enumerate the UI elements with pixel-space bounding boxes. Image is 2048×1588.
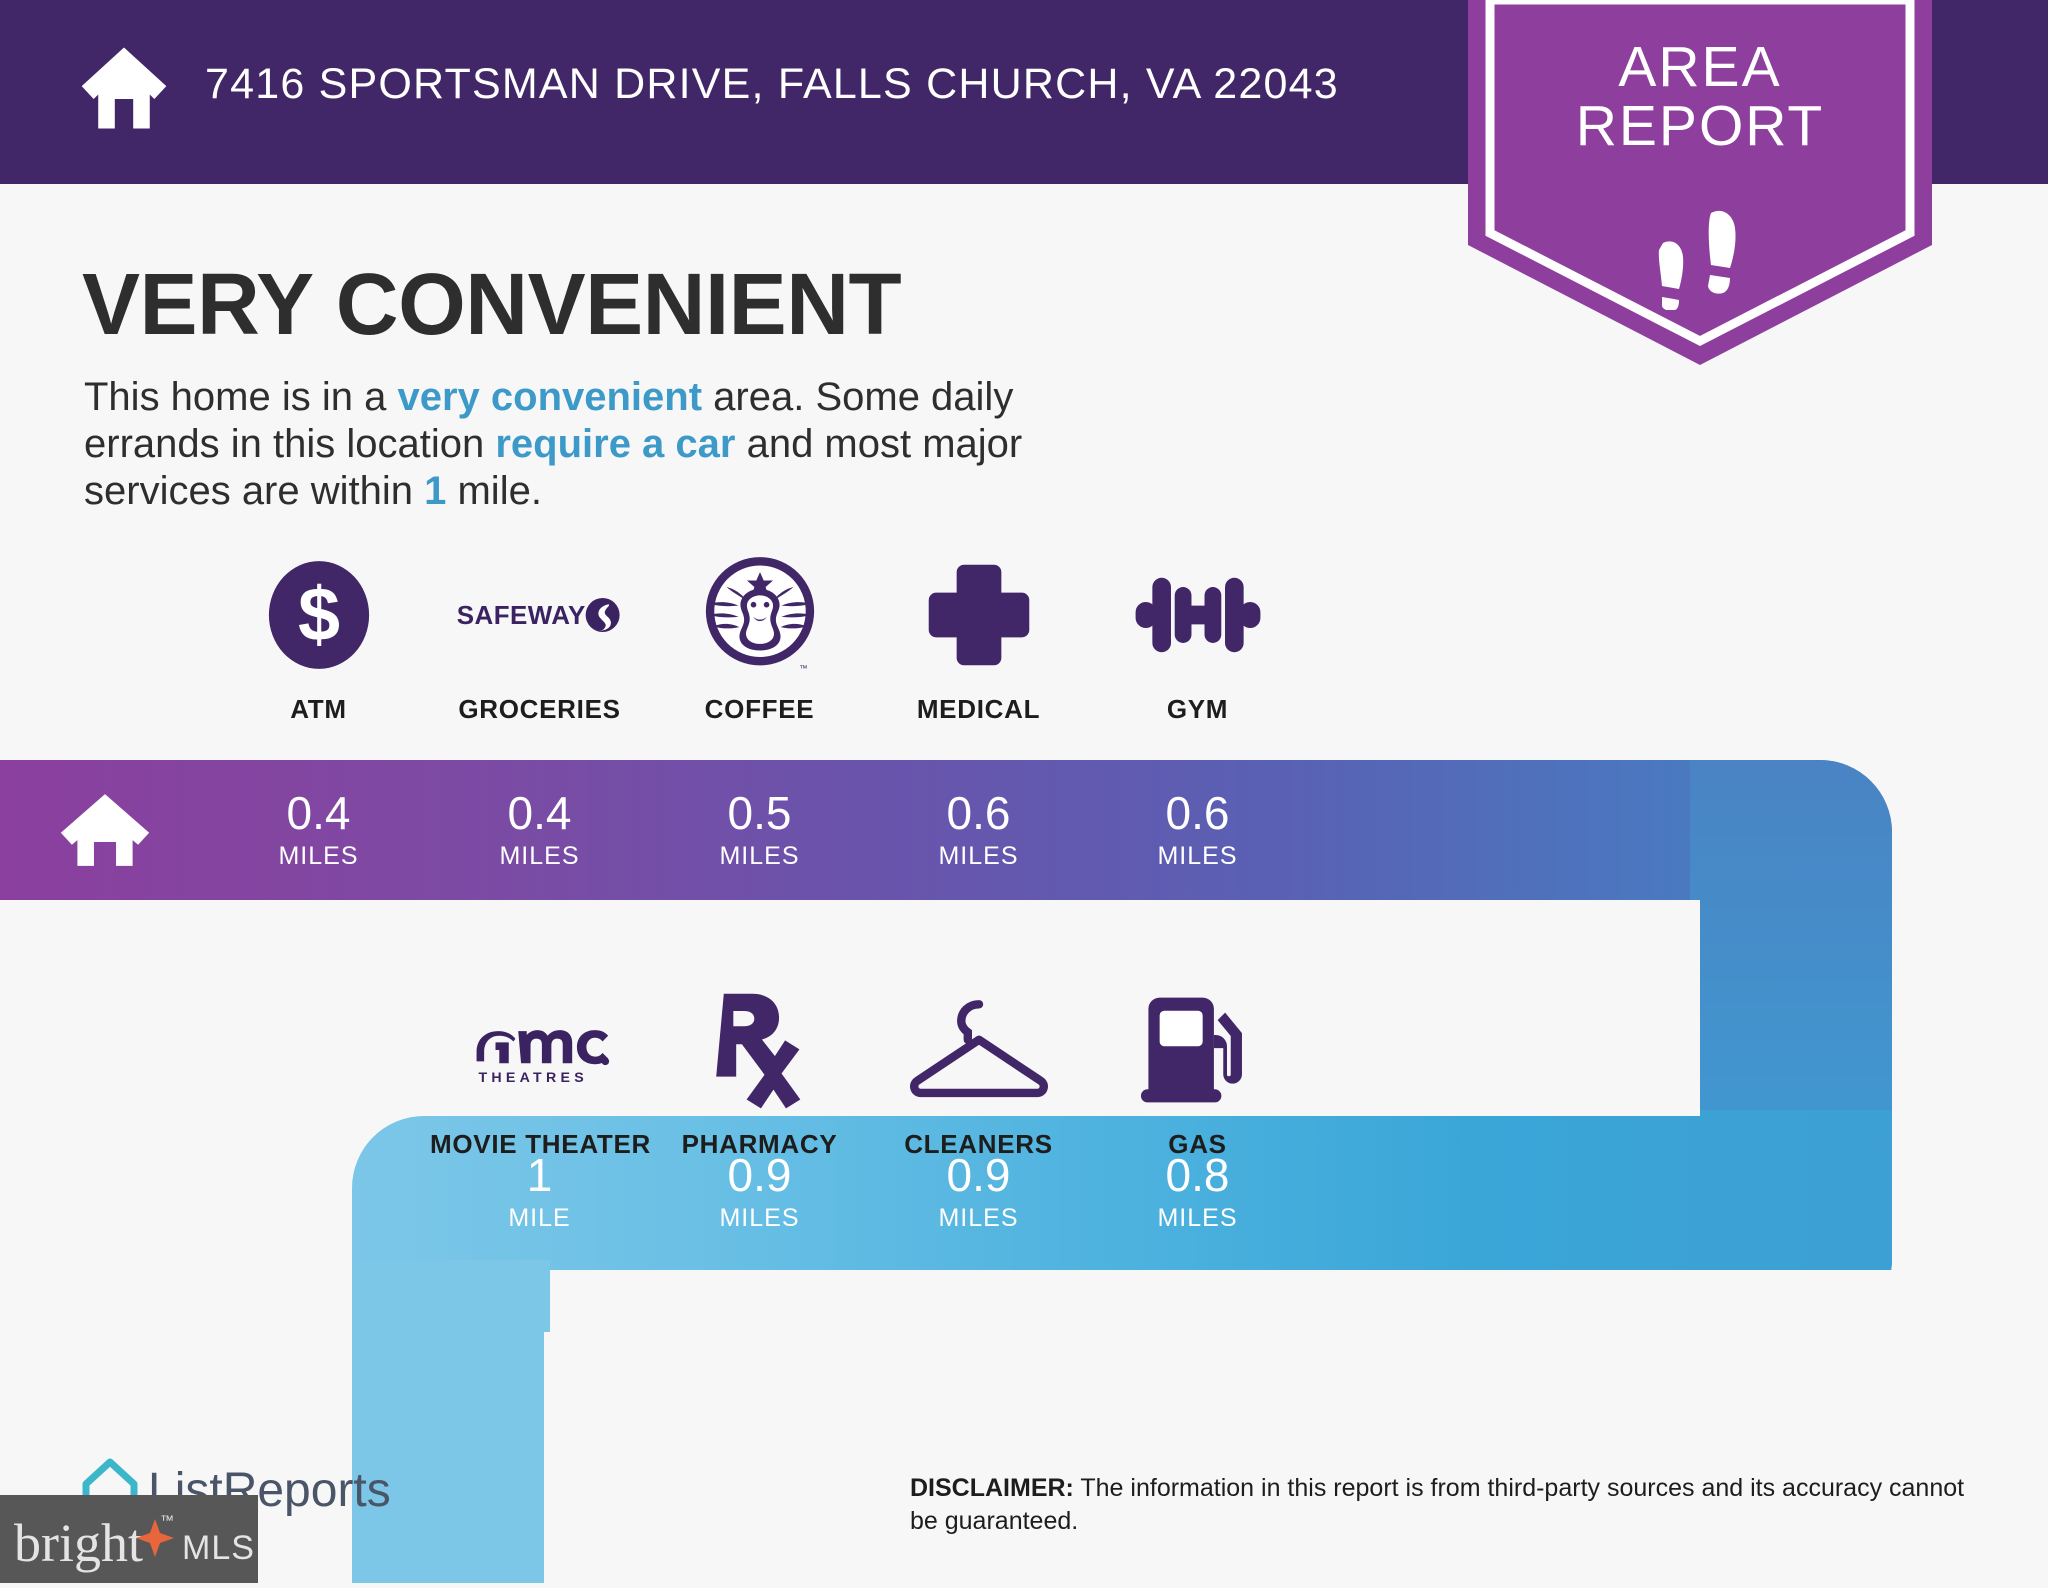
distance-cell-groceries: 0.4 MILES <box>430 760 649 900</box>
rx-icon <box>650 985 869 1115</box>
distance-value: 1 <box>527 1152 553 1198</box>
distance-value: 0.9 <box>728 1152 792 1198</box>
distance-value: 0.9 <box>947 1152 1011 1198</box>
distance-cell-movie-theater: 1 MILE <box>430 1122 649 1262</box>
distance-unit: MILES <box>938 842 1018 871</box>
svg-text:THEATRES: THEATRES <box>478 1070 588 1086</box>
distance-cell-cleaners: 0.9 MILES <box>869 1122 1088 1262</box>
amenity-groceries[interactable]: SAFEWAY GROCERIES <box>430 550 649 725</box>
bright-mls-watermark: bright ™ MLS <box>0 1495 258 1583</box>
distance-cell-coffee: 0.5 MILES <box>650 760 869 900</box>
bright-wordmark: bright <box>14 1513 143 1573</box>
amenity-gym[interactable]: GYM <box>1088 550 1307 725</box>
amenity-medical[interactable]: MEDICAL <box>869 550 1088 725</box>
mls-wordmark: MLS <box>182 1529 255 1567</box>
distance-unit: MILE <box>508 1204 570 1233</box>
distance-unit: MILES <box>499 842 579 871</box>
distance-value: 0.4 <box>508 790 572 836</box>
disclaimer-text: DISCLAIMER: The information in this repo… <box>910 1472 1990 1539</box>
distance-unit: MILES <box>1157 842 1237 871</box>
distance-unit: MILES <box>938 1204 1018 1233</box>
distance-unit: MILES <box>1157 1204 1237 1233</box>
amenity-label: GROCERIES <box>430 694 649 725</box>
distance-cell-gym: 0.6 MILES <box>1088 760 1307 900</box>
medical-cross-icon <box>869 550 1088 680</box>
svg-text:™: ™ <box>799 663 807 673</box>
distance-cell-gas: 0.8 MILES <box>1088 1122 1307 1262</box>
amenity-label: ATM <box>209 694 428 725</box>
dumbbell-icon <box>1088 550 1307 680</box>
dollar-circle-icon: $ <box>209 550 428 680</box>
distance-unit: MILES <box>719 1204 799 1233</box>
distance-value: 0.8 <box>1166 1152 1230 1198</box>
distance-cell-pharmacy: 0.9 MILES <box>650 1122 869 1262</box>
svg-text:$: $ <box>297 574 339 658</box>
tm-mark: ™ <box>160 1512 174 1528</box>
amenity-label: GYM <box>1088 694 1307 725</box>
home-marker <box>0 760 209 900</box>
distance-cell-atm: 0.4 MILES <box>209 760 428 900</box>
house-icon <box>59 792 151 868</box>
distance-value: 0.6 <box>1166 790 1230 836</box>
safeway-logo-icon: SAFEWAY <box>430 550 649 680</box>
distance-unit: MILES <box>719 842 799 871</box>
starbucks-logo-icon: ™ <box>650 550 869 680</box>
area-report-page: 7416 SPORTSMAN DRIVE, FALLS CHURCH, VA 2… <box>0 0 2048 1583</box>
amc-theatres-logo-icon: THEATRES <box>430 985 649 1115</box>
distance-value: 0.6 <box>947 790 1011 836</box>
gas-pump-icon <box>1088 985 1307 1115</box>
disclaimer-label: DISCLAIMER: <box>910 1474 1074 1502</box>
hanger-icon <box>869 985 1088 1115</box>
amenity-coffee[interactable]: ™ COFFEE <box>650 550 869 725</box>
amenity-atm[interactable]: $ ATM <box>209 550 428 725</box>
distance-unit: MILES <box>278 842 358 871</box>
svg-text:SAFEWAY: SAFEWAY <box>456 602 585 630</box>
amenity-label: COFFEE <box>650 694 869 725</box>
amenity-label: MEDICAL <box>869 694 1088 725</box>
distance-value: 0.4 <box>287 790 351 836</box>
distance-value: 0.5 <box>728 790 792 836</box>
distance-cell-medical: 0.6 MILES <box>869 760 1088 900</box>
